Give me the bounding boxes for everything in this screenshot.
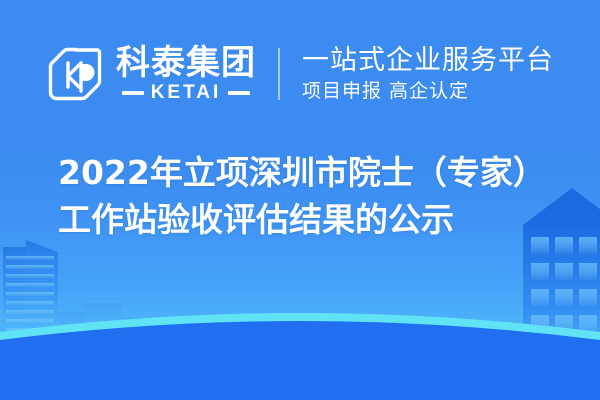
header-divider bbox=[278, 48, 280, 100]
brand-chinese-name: 科泰集团 bbox=[116, 46, 256, 80]
brand-english-row: KETAI bbox=[116, 83, 256, 102]
promo-banner: 科泰集团 KETAI 一站式企业服务平台 项目申报 高企认定 2022年立项深圳… bbox=[0, 0, 600, 400]
brand-wordmark: 科泰集团 KETAI bbox=[116, 46, 256, 102]
page-title: 2022年立项深圳市院士（专家）工作站验收评估结果的公示 bbox=[58, 150, 558, 244]
tagline-main: 一站式企业服务平台 bbox=[302, 46, 554, 76]
brand-english-name: KETAI bbox=[151, 83, 222, 102]
kp-monogram-diamond-icon bbox=[46, 45, 104, 103]
banner-header: 科泰集团 KETAI 一站式企业服务平台 项目申报 高企认定 bbox=[0, 34, 600, 114]
brand-logo[interactable]: 科泰集团 KETAI bbox=[46, 45, 256, 103]
dash-left-icon bbox=[122, 91, 144, 95]
dash-right-icon bbox=[228, 91, 250, 95]
tagline-sub: 项目申报 高企认定 bbox=[302, 81, 554, 102]
tagline-block: 一站式企业服务平台 项目申报 高企认定 bbox=[302, 46, 554, 102]
ground-arc bbox=[0, 290, 600, 400]
